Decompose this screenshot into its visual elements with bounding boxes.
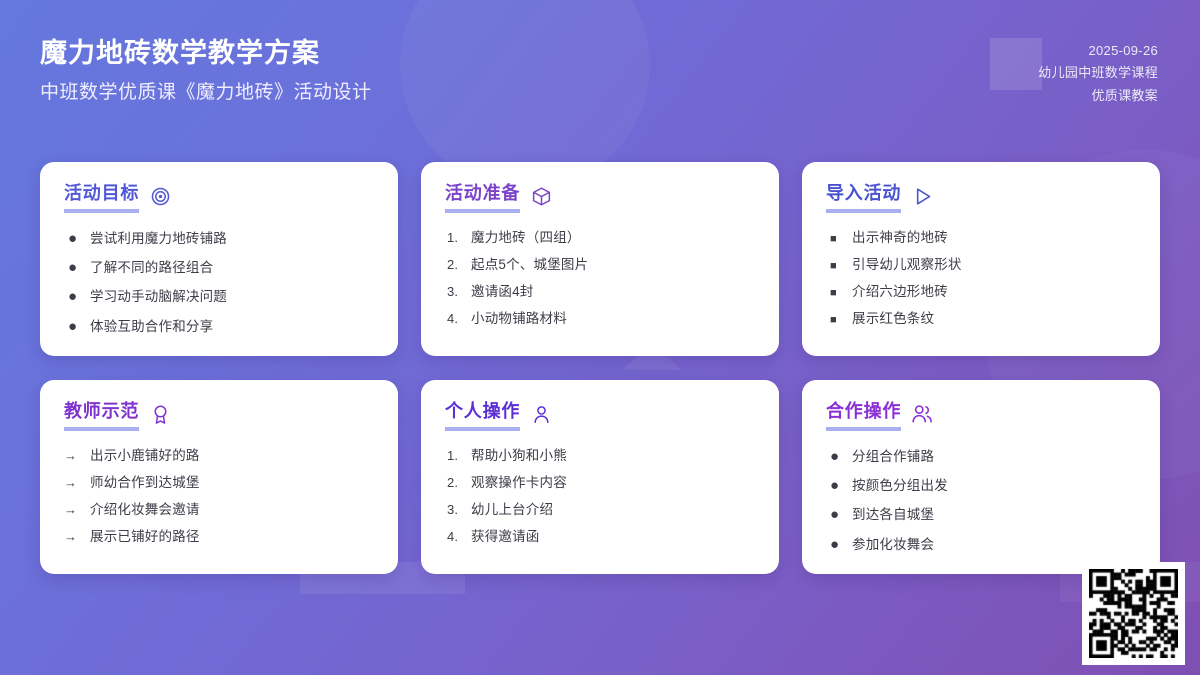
list-item-text: 分组合作铺路 [852, 448, 1136, 466]
list-item-marker: → [64, 501, 90, 519]
list-item: 4.获得邀请函 [445, 528, 755, 546]
list-item: ●体验互助合作和分享 [64, 317, 374, 337]
list-item-marker: ● [64, 287, 90, 307]
list-item-text: 到达各自城堡 [852, 506, 1136, 524]
list-item-text: 幼儿上台介绍 [471, 501, 755, 519]
card-header: 活动准备 [445, 184, 755, 213]
list-item-marker: 2. [445, 256, 471, 274]
list-item-text: 出示小鹿铺好的路 [90, 447, 374, 465]
content-card: 活动准备1.魔力地砖（四组）2.起点5个、城堡图片3.邀请函4封4.小动物铺路材… [421, 162, 779, 356]
list-item: ●分组合作铺路 [826, 447, 1136, 467]
list-item-marker: 1. [445, 229, 471, 247]
card-title: 个人操作 [445, 402, 520, 431]
list-item-text: 帮助小狗和小熊 [471, 447, 755, 465]
card-header: 个人操作 [445, 402, 755, 431]
list-item-marker: 3. [445, 501, 471, 519]
slide-root: 魔力地砖数学教学方案 中班数学优质课《魔力地砖》活动设计 2025-09-26 … [0, 0, 1200, 675]
list-item-text: 观察操作卡内容 [471, 474, 755, 492]
list-item-marker: ■ [826, 259, 852, 274]
qr-code-container[interactable] [1082, 562, 1185, 665]
meta-category: 优质课教案 [1038, 85, 1158, 107]
list-item: ●参加化妆舞会 [826, 535, 1136, 555]
list-item-text: 魔力地砖（四组） [471, 229, 755, 247]
list-item-marker: ● [826, 447, 852, 467]
list-item-text: 介绍化妆舞会邀请 [90, 501, 374, 519]
list-item-text: 出示神奇的地砖 [852, 229, 1136, 247]
list-item: ●尝试利用魔力地砖铺路 [64, 229, 374, 249]
list-item-text: 尝试利用魔力地砖铺路 [90, 230, 374, 248]
card-item-list: 1.魔力地砖（四组）2.起点5个、城堡图片3.邀请函4封4.小动物铺路材料 [445, 229, 755, 329]
list-item-marker: → [64, 474, 90, 492]
list-item-text: 邀请函4封 [471, 283, 755, 301]
list-item-text: 小动物铺路材料 [471, 310, 755, 328]
list-item-marker: 4. [445, 528, 471, 546]
list-item-text: 了解不同的路径组合 [90, 259, 374, 277]
list-item-marker: → [64, 447, 90, 465]
header-left-group: 魔力地砖数学教学方案 中班数学优质课《魔力地砖》活动设计 [40, 36, 372, 106]
list-item-text: 获得邀请函 [471, 528, 755, 546]
list-item-text: 参加化妆舞会 [852, 536, 1136, 554]
list-item-marker: ■ [826, 313, 852, 328]
card-item-list: 1.帮助小狗和小熊2.观察操作卡内容3.幼儿上台介绍4.获得邀请函 [445, 447, 755, 547]
package-box-icon [530, 185, 552, 207]
content-card-grid: 活动目标●尝试利用魔力地砖铺路●了解不同的路径组合●学习动手动脑解决问题●体验互… [40, 162, 1160, 574]
card-header: 合作操作 [826, 402, 1136, 431]
card-title: 活动目标 [64, 184, 139, 213]
list-item: ●按颜色分组出发 [826, 476, 1136, 496]
list-item: 4.小动物铺路材料 [445, 310, 755, 328]
list-item-marker: 2. [445, 474, 471, 492]
list-item-text: 起点5个、城堡图片 [471, 256, 755, 274]
list-item: ■引导幼儿观察形状 [826, 256, 1136, 274]
page-title: 魔力地砖数学教学方案 [40, 36, 372, 71]
list-item: ■介绍六边形地砖 [826, 283, 1136, 301]
meta-course: 幼儿园中班数学课程 [1038, 62, 1158, 84]
list-item-text: 按颜色分组出发 [852, 477, 1136, 495]
list-item: 1.帮助小狗和小熊 [445, 447, 755, 465]
header-meta-group: 2025-09-26 幼儿园中班数学课程 优质课教案 [1038, 40, 1158, 107]
meta-date: 2025-09-26 [1038, 40, 1158, 62]
list-item-text: 引导幼儿观察形状 [852, 256, 1136, 274]
list-item-marker: ● [64, 317, 90, 337]
award-badge-icon [149, 403, 171, 425]
target-icon [149, 185, 171, 207]
content-card: 合作操作●分组合作铺路●按颜色分组出发●到达各自城堡●参加化妆舞会 [802, 380, 1160, 574]
list-item-marker: ● [64, 229, 90, 249]
list-item: 2.观察操作卡内容 [445, 474, 755, 492]
card-item-list: ●分组合作铺路●按颜色分组出发●到达各自城堡●参加化妆舞会 [826, 447, 1136, 555]
card-title: 导入活动 [826, 184, 901, 213]
content-card: 个人操作1.帮助小狗和小熊2.观察操作卡内容3.幼儿上台介绍4.获得邀请函 [421, 380, 779, 574]
list-item: ■展示红色条纹 [826, 310, 1136, 328]
list-item-marker: ● [826, 505, 852, 525]
card-title: 合作操作 [826, 402, 901, 431]
page-subtitle: 中班数学优质课《魔力地砖》活动设计 [40, 81, 372, 106]
qr-code-image [1089, 569, 1178, 658]
single-person-icon [530, 403, 552, 425]
list-item-text: 师幼合作到达城堡 [90, 474, 374, 492]
list-item: →展示已铺好的路径 [64, 528, 374, 546]
content-card: 活动目标●尝试利用魔力地砖铺路●了解不同的路径组合●学习动手动脑解决问题●体验互… [40, 162, 398, 356]
list-item-marker: → [64, 528, 90, 546]
list-item: →介绍化妆舞会邀请 [64, 501, 374, 519]
list-item-text: 体验互助合作和分享 [90, 318, 374, 336]
list-item-marker: 4. [445, 310, 471, 328]
list-item: ●到达各自城堡 [826, 505, 1136, 525]
card-item-list: →出示小鹿铺好的路→师幼合作到达城堡→介绍化妆舞会邀请→展示已铺好的路径 [64, 447, 374, 547]
list-item-text: 展示已铺好的路径 [90, 528, 374, 546]
card-header: 活动目标 [64, 184, 374, 213]
card-item-list: ■出示神奇的地砖■引导幼儿观察形状■介绍六边形地砖■展示红色条纹 [826, 229, 1136, 329]
list-item: ■出示神奇的地砖 [826, 229, 1136, 247]
list-item-text: 介绍六边形地砖 [852, 283, 1136, 301]
list-item-text: 学习动手动脑解决问题 [90, 288, 374, 306]
card-title: 活动准备 [445, 184, 520, 213]
list-item: 3.幼儿上台介绍 [445, 501, 755, 519]
card-header: 导入活动 [826, 184, 1136, 213]
list-item-marker: 3. [445, 283, 471, 301]
content-card: 教师示范→出示小鹿铺好的路→师幼合作到达城堡→介绍化妆舞会邀请→展示已铺好的路径 [40, 380, 398, 574]
list-item: ●了解不同的路径组合 [64, 258, 374, 278]
list-item: →出示小鹿铺好的路 [64, 447, 374, 465]
list-item: 1.魔力地砖（四组） [445, 229, 755, 247]
list-item: 2.起点5个、城堡图片 [445, 256, 755, 274]
list-item-marker: 1. [445, 447, 471, 465]
list-item-marker: ● [826, 535, 852, 555]
list-item-marker: ● [64, 258, 90, 278]
people-group-icon [911, 403, 933, 425]
list-item: →师幼合作到达城堡 [64, 474, 374, 492]
list-item-marker: ● [826, 476, 852, 496]
card-item-list: ●尝试利用魔力地砖铺路●了解不同的路径组合●学习动手动脑解决问题●体验互助合作和… [64, 229, 374, 337]
play-triangle-icon [911, 185, 933, 207]
list-item: ●学习动手动脑解决问题 [64, 287, 374, 307]
slide-header: 魔力地砖数学教学方案 中班数学优质课《魔力地砖》活动设计 2025-09-26 … [0, 0, 1200, 140]
card-header: 教师示范 [64, 402, 374, 431]
list-item-marker: ■ [826, 286, 852, 301]
list-item-marker: ■ [826, 232, 852, 247]
content-card: 导入活动■出示神奇的地砖■引导幼儿观察形状■介绍六边形地砖■展示红色条纹 [802, 162, 1160, 356]
list-item-text: 展示红色条纹 [852, 310, 1136, 328]
list-item: 3.邀请函4封 [445, 283, 755, 301]
card-title: 教师示范 [64, 402, 139, 431]
